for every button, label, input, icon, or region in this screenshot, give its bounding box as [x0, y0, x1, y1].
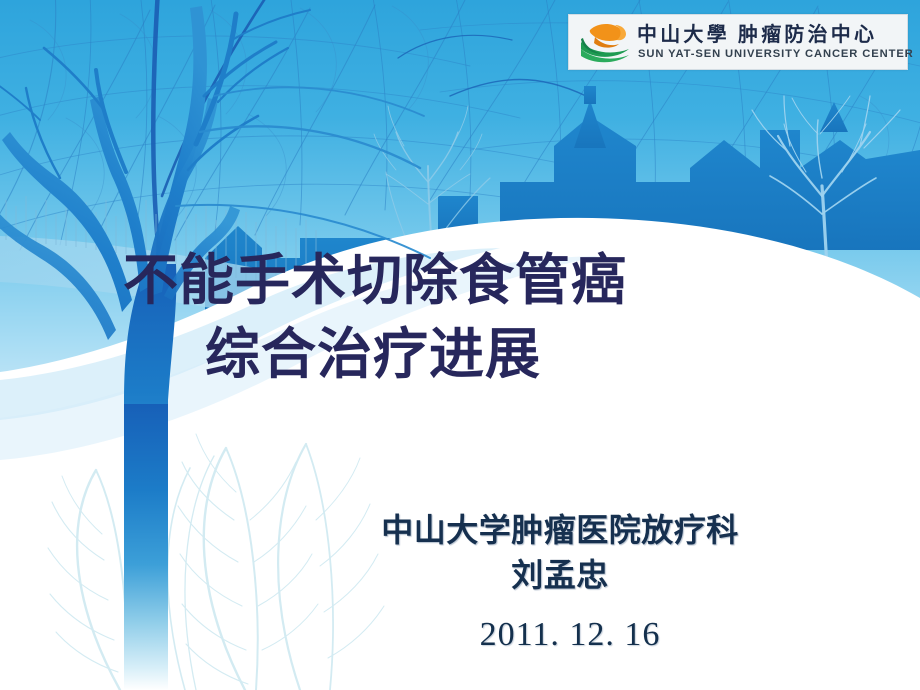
slide-date: 2011. 12. 16	[300, 614, 840, 656]
title-line-1: 不能手术切除食管癌	[0, 243, 740, 317]
logo-english-name: SUN YAT-SEN UNIVERSITY CANCER CENTER	[637, 47, 914, 62]
institution-logo-badge: 中山大學 肿瘤防治中心 SUN YAT-SEN UNIVERSITY CANCE…	[568, 14, 908, 70]
sun-yat-sen-cancer-center-emblem-icon	[577, 18, 635, 66]
title-line-2: 综合治疗进展	[0, 317, 740, 391]
subtitle-presenter: 刘孟忠	[250, 553, 870, 598]
subtitle-affiliation: 中山大学肿瘤医院放疗科	[250, 508, 870, 553]
logo-chinese-name: 中山大學 肿瘤防治中心	[637, 23, 914, 47]
slide-subtitle: 中山大学肿瘤医院放疗科 刘孟忠	[250, 508, 870, 598]
presentation-slide: 中山大學 肿瘤防治中心 SUN YAT-SEN UNIVERSITY CANCE…	[0, 0, 920, 690]
logo-text-block: 中山大學 肿瘤防治中心 SUN YAT-SEN UNIVERSITY CANCE…	[635, 23, 914, 62]
slide-title: 不能手术切除食管癌 综合治疗进展	[0, 243, 740, 391]
